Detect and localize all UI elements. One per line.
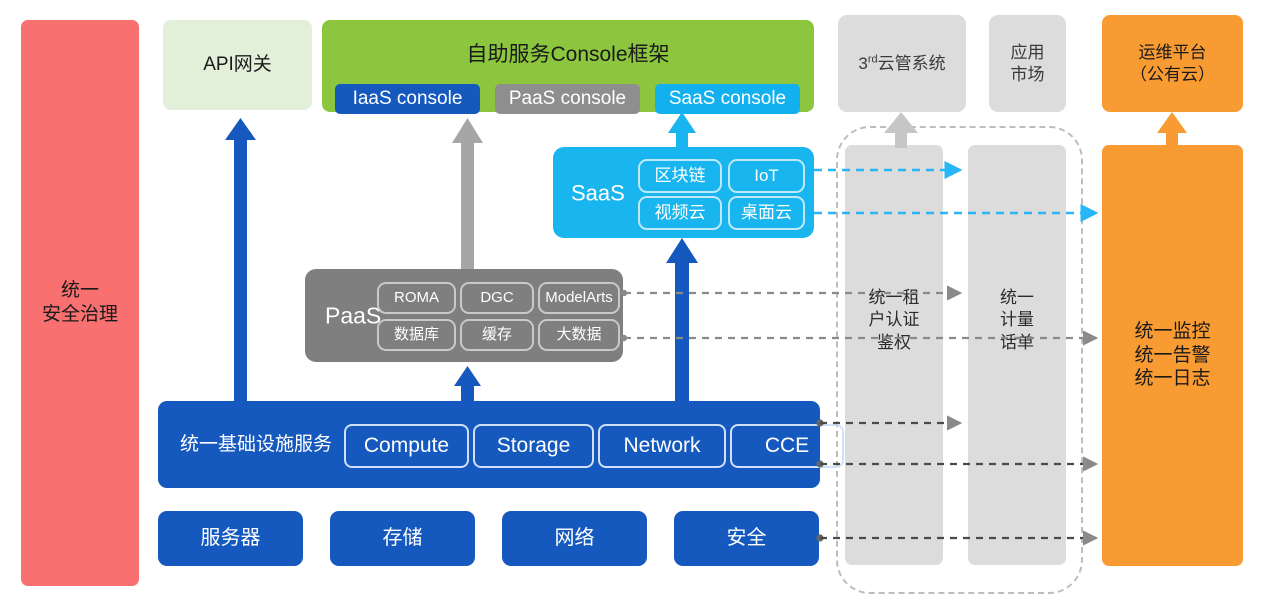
saas-chip-video-cloud-label: 视频云 [655, 202, 706, 223]
paas-chip-database: 数据库 [377, 319, 456, 351]
paas-console-label: PaaS console [509, 87, 626, 111]
paas-layer-label: PaaS [325, 301, 381, 330]
infra-chip-cce: CCE [730, 424, 844, 468]
app-market-box: 应用 市场 [989, 15, 1066, 112]
paas-chip-roma-label: ROMA [394, 289, 439, 308]
saas-console-label: SaaS console [669, 87, 786, 111]
ops-platform-line2: （公有云） [1130, 64, 1215, 85]
unified-metering-line3: 话单 [968, 332, 1066, 354]
arrow-infra-to-api-gateway [225, 118, 256, 401]
ops-pillar-line1: 统一监控 [1134, 320, 1210, 344]
console-frame-title: 自助服务Console框架 [322, 42, 814, 68]
resource-box-storage-label: 存储 [383, 526, 423, 551]
paas-chip-modelarts-label: ModelArts [545, 289, 613, 308]
paas-chip-roma: ROMA [377, 282, 456, 314]
resource-box-security-label: 安全 [727, 526, 767, 551]
paas-chip-bigdata-label: 大数据 [556, 326, 601, 345]
console-frame-box: 自助服务Console框架 IaaS console PaaS console … [322, 20, 814, 112]
security-pillar-line1: 统一 [61, 279, 99, 303]
ops-pillar-line2: 统一告警 [1134, 344, 1210, 368]
ops-platform-line1: 运维平台 [1139, 42, 1207, 63]
infra-chip-cce-label: CCE [765, 433, 809, 459]
arrow-paas-to-console [452, 118, 483, 269]
iaas-console-chip: IaaS console [335, 84, 480, 114]
saas-layer-box: SaaS 区块链 IoT 视频云 桌面云 [553, 147, 814, 238]
unified-tenant-auth-column: 统一租 户认证 鉴权 [845, 145, 943, 565]
infra-chip-storage-label: Storage [497, 433, 571, 459]
resource-box-network-label: 网络 [555, 526, 595, 551]
paas-chip-cache-label: 缓存 [482, 326, 512, 345]
unified-infrastructure-layer-box: 统一基础设施服务 Compute Storage Network CCE [158, 401, 820, 488]
paas-chip-bigdata: 大数据 [538, 319, 620, 351]
resource-box-server-label: 服务器 [201, 526, 261, 551]
saas-chip-blockchain: 区块链 [638, 159, 722, 193]
arrow-ops-pillar-to-ops-platform [1157, 112, 1187, 148]
third-party-cloud-mgmt-label: 3rd云管系统 [858, 53, 945, 74]
saas-chip-desktop-cloud: 桌面云 [728, 196, 805, 230]
infra-chip-network-label: Network [623, 433, 700, 459]
paas-chip-dgc-label: DGC [480, 289, 513, 308]
unified-metering-line2: 计量 [968, 309, 1066, 331]
unified-metering-label: 统一 计量 话单 [968, 287, 1066, 354]
paas-console-chip: PaaS console [495, 84, 640, 114]
resource-box-security: 安全 [674, 511, 819, 566]
saas-chip-iot-label: IoT [754, 165, 779, 186]
unified-tenant-auth-line1: 统一租 [845, 287, 943, 309]
saas-console-chip: SaaS console [655, 84, 800, 114]
security-governance-pillar: 统一 安全治理 [21, 20, 139, 586]
unified-tenant-auth-line3: 鉴权 [845, 332, 943, 354]
saas-chip-desktop-cloud-label: 桌面云 [741, 202, 792, 223]
paas-chip-cache: 缓存 [460, 319, 534, 351]
ops-platform-box: 运维平台 （公有云） [1102, 15, 1243, 112]
arrow-infra-to-saas [666, 238, 698, 401]
ops-monitoring-pillar: 统一监控 统一告警 统一日志 [1102, 145, 1243, 566]
infra-chip-storage: Storage [473, 424, 594, 468]
unified-metering-column: 统一 计量 话单 [968, 145, 1066, 565]
app-market-line2: 市场 [1011, 64, 1045, 85]
architecture-diagram: 统一 安全治理 API网关 自助服务Console框架 IaaS console… [0, 0, 1265, 605]
saas-chip-iot: IoT [728, 159, 805, 193]
api-gateway-label: API网关 [203, 53, 272, 77]
paas-chip-modelarts: ModelArts [538, 282, 620, 314]
resource-box-storage: 存储 [330, 511, 475, 566]
third-party-cloud-mgmt-box: 3rd云管系统 [838, 15, 966, 112]
api-gateway-box: API网关 [163, 20, 312, 110]
saas-layer-label: SaaS [571, 179, 625, 207]
saas-chip-video-cloud: 视频云 [638, 196, 722, 230]
ops-pillar-line3: 统一日志 [1134, 367, 1210, 391]
paas-chip-database-label: 数据库 [394, 326, 439, 345]
infra-chip-compute: Compute [344, 424, 469, 468]
resource-box-server: 服务器 [158, 511, 303, 566]
resource-box-network: 网络 [502, 511, 647, 566]
app-market-line1: 应用 [1011, 42, 1045, 63]
paas-layer-box: PaaS ROMA DGC ModelArts 数据库 缓存 大数据 [305, 269, 623, 362]
arrow-infra-to-paas [454, 366, 481, 401]
infra-chip-compute-label: Compute [364, 433, 449, 459]
unified-metering-line1: 统一 [968, 287, 1066, 309]
arrow-saas-to-saas-console [668, 112, 696, 148]
iaas-console-label: IaaS console [353, 87, 463, 111]
unified-infrastructure-label: 统一基础设施服务 [180, 433, 332, 457]
unified-tenant-auth-line2: 户认证 [845, 309, 943, 331]
infra-chip-network: Network [598, 424, 726, 468]
saas-chip-blockchain-label: 区块链 [655, 165, 706, 186]
paas-chip-dgc: DGC [460, 282, 534, 314]
unified-tenant-auth-label: 统一租 户认证 鉴权 [845, 287, 943, 354]
security-pillar-line2: 安全治理 [42, 303, 118, 327]
